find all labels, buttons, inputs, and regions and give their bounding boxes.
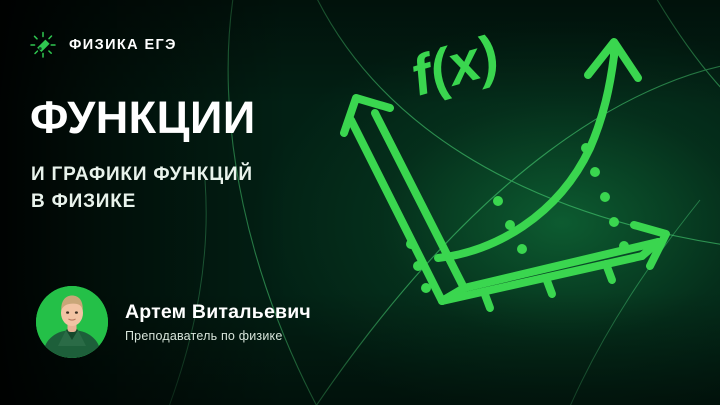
rocket-sparkle-icon xyxy=(28,30,58,60)
presenter-portrait xyxy=(36,286,108,358)
slide-canvas: ФИЗИКА ЕГЭ ФУНКЦИИ И ГРАФИКИ ФУНКЦИЙ В Ф… xyxy=(0,0,720,405)
function-label-text: f(x) xyxy=(404,23,505,108)
hand-drawn-function-graph: f(x) xyxy=(318,20,718,390)
subtitle-line-1: И ГРАФИКИ ФУНКЦИЙ xyxy=(31,162,253,189)
avatar xyxy=(36,286,108,358)
brand-logo: ФИЗИКА ЕГЭ xyxy=(28,30,177,60)
presenter-name: Артем Витальевич xyxy=(125,301,311,324)
page-title: ФУНКЦИИ xyxy=(30,95,256,140)
brand-name: ФИЗИКА ЕГЭ xyxy=(69,37,177,53)
page-subtitle: И ГРАФИКИ ФУНКЦИЙ В ФИЗИКЕ xyxy=(31,162,253,216)
function-label: f(x) xyxy=(404,23,505,108)
subtitle-line-2: В ФИЗИКЕ xyxy=(31,189,253,216)
presenter-block: Артем Витальевич Преподаватель по физике xyxy=(36,286,311,358)
presenter-meta: Артем Витальевич Преподаватель по физике xyxy=(125,301,311,343)
y-axis-arrow xyxy=(344,98,464,301)
presenter-role: Преподаватель по физике xyxy=(125,329,311,343)
